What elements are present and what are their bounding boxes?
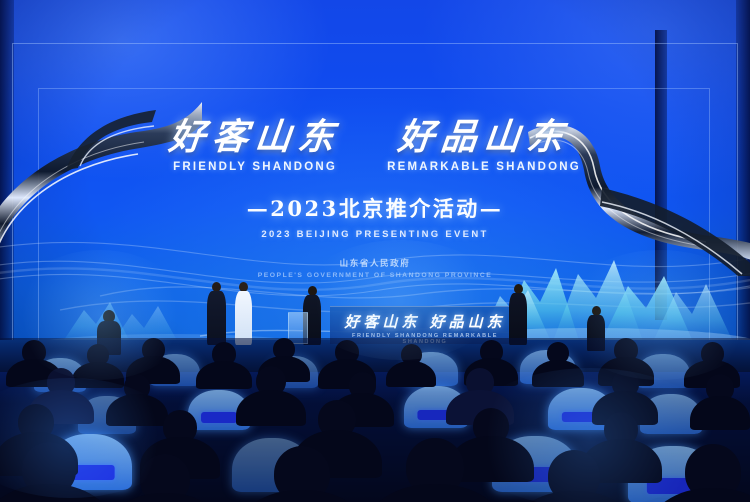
audience-person-foreground bbox=[106, 454, 224, 502]
audience-person-foreground bbox=[512, 450, 636, 502]
event-title-cn: —2023北京推介活动— bbox=[0, 193, 750, 223]
podium-banner-cn: 好客山东 好品山东 bbox=[330, 311, 520, 332]
slogan-right-group: 好品山东 REMARKABLE SHANDONG bbox=[387, 118, 581, 173]
audience-shoulders bbox=[366, 484, 504, 502]
slogan-right-en: REMARKABLE SHANDONG bbox=[387, 161, 581, 173]
audience-shoulders bbox=[0, 484, 112, 502]
slogan-left-cn: 好客山东 bbox=[167, 118, 343, 157]
host-female-body bbox=[235, 291, 252, 345]
slogan-right-cn: 好品山东 bbox=[385, 118, 583, 157]
audience-person-foreground bbox=[0, 442, 112, 502]
host-male-body bbox=[207, 291, 226, 345]
screen-title-block: 好客山东 FRIENDLY SHANDONG 好品山东 REMARKABLE S… bbox=[0, 118, 750, 279]
audience-person bbox=[690, 374, 750, 430]
audience-person-foreground bbox=[366, 438, 504, 502]
slogan-row: 好客山东 FRIENDLY SHANDONG 好品山东 REMARKABLE S… bbox=[0, 118, 750, 173]
audience-shoulders bbox=[236, 490, 368, 502]
audience-shoulders bbox=[648, 488, 750, 502]
audience-shoulders bbox=[690, 396, 750, 430]
organizer-cn: 山东省人民政府 bbox=[0, 257, 750, 269]
audience-shoulders bbox=[106, 493, 224, 502]
audience-person-foreground bbox=[236, 446, 368, 502]
event-title-en: 2023 BEIJING PRESENTING EVENT bbox=[0, 229, 750, 240]
audience-shoulders bbox=[532, 360, 584, 387]
audience-person bbox=[532, 342, 584, 387]
host-female bbox=[232, 282, 254, 346]
conference-stage-photo: 好客山东 FRIENDLY SHANDONG 好品山东 REMARKABLE S… bbox=[0, 0, 750, 502]
audience-person-foreground bbox=[648, 444, 750, 502]
slogan-left-group: 好客山东 FRIENDLY SHANDONG bbox=[169, 118, 341, 173]
host-male bbox=[205, 282, 227, 346]
organizer-en: PEOPLE'S GOVERNMENT OF SHANDONG PROVINCE bbox=[0, 272, 750, 279]
attendee-right-standing bbox=[508, 284, 528, 346]
audience-area bbox=[0, 338, 750, 502]
audience-shoulders bbox=[512, 491, 636, 502]
slogan-left-en: FRIENDLY SHANDONG bbox=[169, 161, 341, 173]
